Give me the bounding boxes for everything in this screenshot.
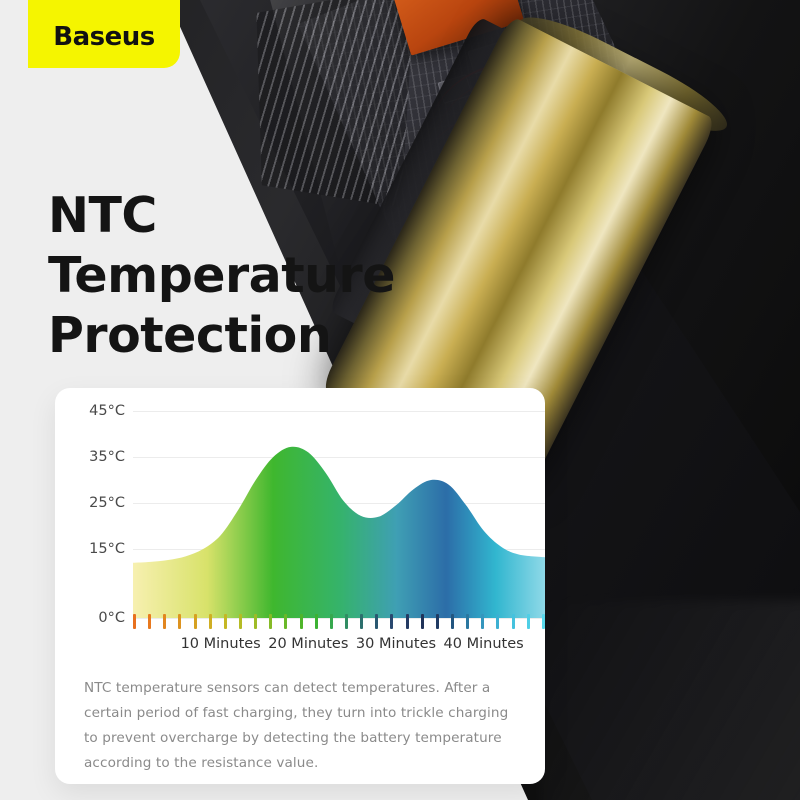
axis-tick-mark <box>178 614 181 629</box>
temperature-chart: 45°C35°C25°C15°C0°C <box>55 388 545 658</box>
y-axis-tick: 45°C <box>89 403 125 419</box>
axis-tick-mark <box>133 614 136 629</box>
axis-tick-mark <box>542 614 545 629</box>
x-axis-tick: 30 Minutes <box>356 636 436 652</box>
title-line-2: Temperature <box>48 246 395 306</box>
title-line-3: Protection <box>48 306 395 366</box>
brand-badge: Baseus <box>28 0 180 68</box>
y-axis-tick: 15°C <box>89 541 125 557</box>
x-axis-tick: 20 Minutes <box>268 636 348 652</box>
x-axis-tick: 40 Minutes <box>444 636 524 652</box>
axis-tick-mark <box>466 614 469 629</box>
axis-tick-mark <box>421 614 424 629</box>
axis-tick-mark <box>209 614 212 629</box>
product-feature-page: Baseus NTC Temperature Protection 45°C35… <box>0 0 800 800</box>
brand-name: Baseus <box>53 22 154 52</box>
axis-tick-mark <box>496 614 499 629</box>
axis-tick-mark <box>254 614 257 629</box>
axis-tick-mark <box>194 614 197 629</box>
axis-tick-mark <box>284 614 287 629</box>
axis-tick-mark <box>163 614 166 629</box>
temperature-chart-card: 45°C35°C25°C15°C0°C <box>55 388 545 784</box>
y-axis-tick: 25°C <box>89 495 125 511</box>
title-line-1: NTC <box>48 186 395 246</box>
axis-tick-mark <box>239 614 242 629</box>
axis-tick-mark <box>436 614 439 629</box>
axis-tick-mark <box>406 614 409 629</box>
axis-tick-mark <box>527 614 530 629</box>
axis-tick-mark <box>375 614 378 629</box>
axis-tick-mark <box>360 614 363 629</box>
axis-tick-mark <box>451 614 454 629</box>
page-title: NTC Temperature Protection <box>48 186 395 365</box>
temperature-curve <box>133 388 545 618</box>
axis-tick-mark <box>315 614 318 629</box>
x-axis-tick: 10 Minutes <box>181 636 261 652</box>
axis-tick-mark <box>269 614 272 629</box>
y-axis-labels: 45°C35°C25°C15°C0°C <box>55 388 133 618</box>
gradient-tick-strip <box>133 612 545 630</box>
chart-caption: NTC temperature sensors can detect tempe… <box>84 676 522 777</box>
y-axis-tick: 0°C <box>98 610 125 626</box>
chart-plot-area <box>133 388 545 618</box>
photo-glare <box>540 600 800 800</box>
y-axis-tick: 35°C <box>89 449 125 465</box>
axis-tick-mark <box>390 614 393 629</box>
axis-tick-mark <box>300 614 303 629</box>
axis-tick-mark <box>345 614 348 629</box>
x-axis-labels: 10 Minutes20 Minutes30 Minutes40 Minutes <box>133 636 545 658</box>
axis-tick-mark <box>512 614 515 629</box>
axis-tick-mark <box>481 614 484 629</box>
axis-tick-mark <box>224 614 227 629</box>
axis-tick-mark <box>330 614 333 629</box>
axis-tick-mark <box>148 614 151 629</box>
